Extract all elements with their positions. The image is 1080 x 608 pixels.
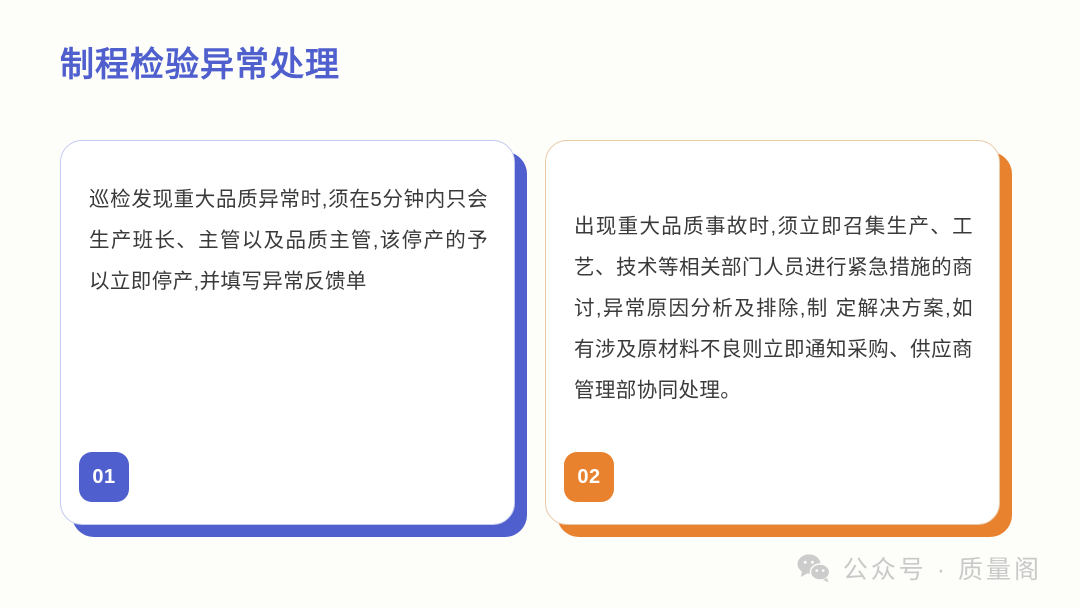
card-number-badge-02: 02 bbox=[564, 452, 614, 502]
content-card-01[interactable]: 巡检发现重大品质异常时,须在5分钟内只会生产班长、主管以及品质主管,该停产的予以… bbox=[60, 140, 515, 525]
card-body-01: 巡检发现重大品质异常时,须在5分钟内只会生产班长、主管以及品质主管,该停产的予以… bbox=[60, 140, 515, 525]
slide-canvas: 制程检验异常处理 巡检发现重大品质异常时,须在5分钟内只会生产班长、主管以及品质… bbox=[0, 0, 1080, 608]
page-title: 制程检验异常处理 bbox=[60, 45, 340, 86]
card-text-02: 出现重大品质事故时,须立即召集生产、工艺、技术等相关部门人员进行紧急措施的商讨,… bbox=[574, 206, 973, 411]
content-card-02[interactable]: 出现重大品质事故时,须立即召集生产、工艺、技术等相关部门人员进行紧急措施的商讨,… bbox=[545, 140, 1000, 525]
card-text-01: 巡检发现重大品质异常时,须在5分钟内只会生产班长、主管以及品质主管,该停产的予以… bbox=[89, 179, 488, 302]
card-number-badge-01: 01 bbox=[79, 452, 129, 502]
wechat-icon bbox=[797, 553, 831, 583]
card-body-02: 出现重大品质事故时,须立即召集生产、工艺、技术等相关部门人员进行紧急措施的商讨,… bbox=[545, 140, 1000, 525]
watermark-text: 公众号 · 质量阁 bbox=[843, 550, 1042, 586]
watermark: 公众号 · 质量阁 bbox=[797, 550, 1042, 586]
